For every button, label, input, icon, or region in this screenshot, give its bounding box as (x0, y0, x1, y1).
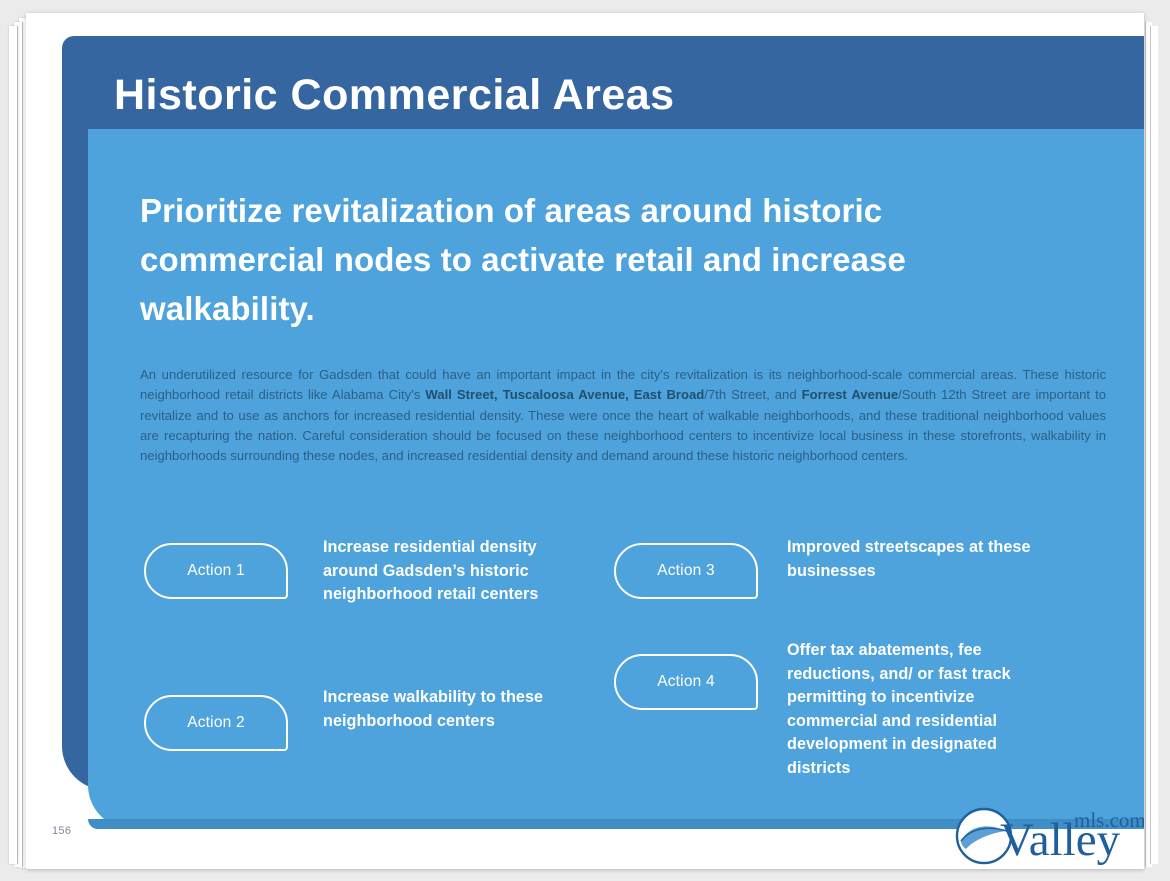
action-badge-3[interactable]: Action 3 (614, 543, 758, 599)
action-description-1: Increase residential density around Gads… (323, 536, 588, 607)
action-description-3: Improved streetscapes at these businesse… (787, 536, 1042, 583)
page-stack-edge (9, 26, 18, 864)
page-number: 156 (52, 825, 71, 837)
document-viewer[interactable]: Historic Commercial Areas Prioritize rev… (0, 0, 1170, 881)
page-stack-edge-right (1150, 26, 1158, 864)
action-badge-2[interactable]: Action 2 (144, 695, 288, 751)
action-badge-2-label: Action 2 (187, 714, 245, 732)
page-title: Historic Commercial Areas (114, 74, 675, 117)
action-badge-1-label: Action 1 (187, 562, 245, 580)
paragraph-bold-2: Forrest Avenue (802, 387, 898, 402)
paragraph-part-2: /7th Street, and (704, 387, 801, 402)
body-paragraph: An underutilized resource for Gadsden th… (140, 365, 1106, 466)
action-description-2: Increase walkability to these neighborho… (323, 686, 568, 733)
slide-canvas: Historic Commercial Areas Prioritize rev… (26, 13, 1144, 869)
action-description-4: Offer tax abatements, fee reductions, an… (787, 639, 1052, 780)
action-badge-1[interactable]: Action 1 (144, 543, 288, 599)
action-badge-4-label: Action 4 (657, 673, 715, 691)
logo-suffix-text: mls.com (1074, 808, 1144, 832)
valley-mls-logo: Valley mls.com (954, 803, 1144, 869)
action-badge-4[interactable]: Action 4 (614, 654, 758, 710)
lede-statement: Prioritize revitalization of areas aroun… (140, 187, 1060, 333)
document-page[interactable]: Historic Commercial Areas Prioritize rev… (26, 13, 1144, 869)
paragraph-bold-1: Wall Street, Tuscaloosa Avenue, East Bro… (425, 387, 704, 402)
action-badge-3-label: Action 3 (657, 562, 715, 580)
valley-mls-logo-svg: Valley mls.com (954, 803, 1144, 869)
